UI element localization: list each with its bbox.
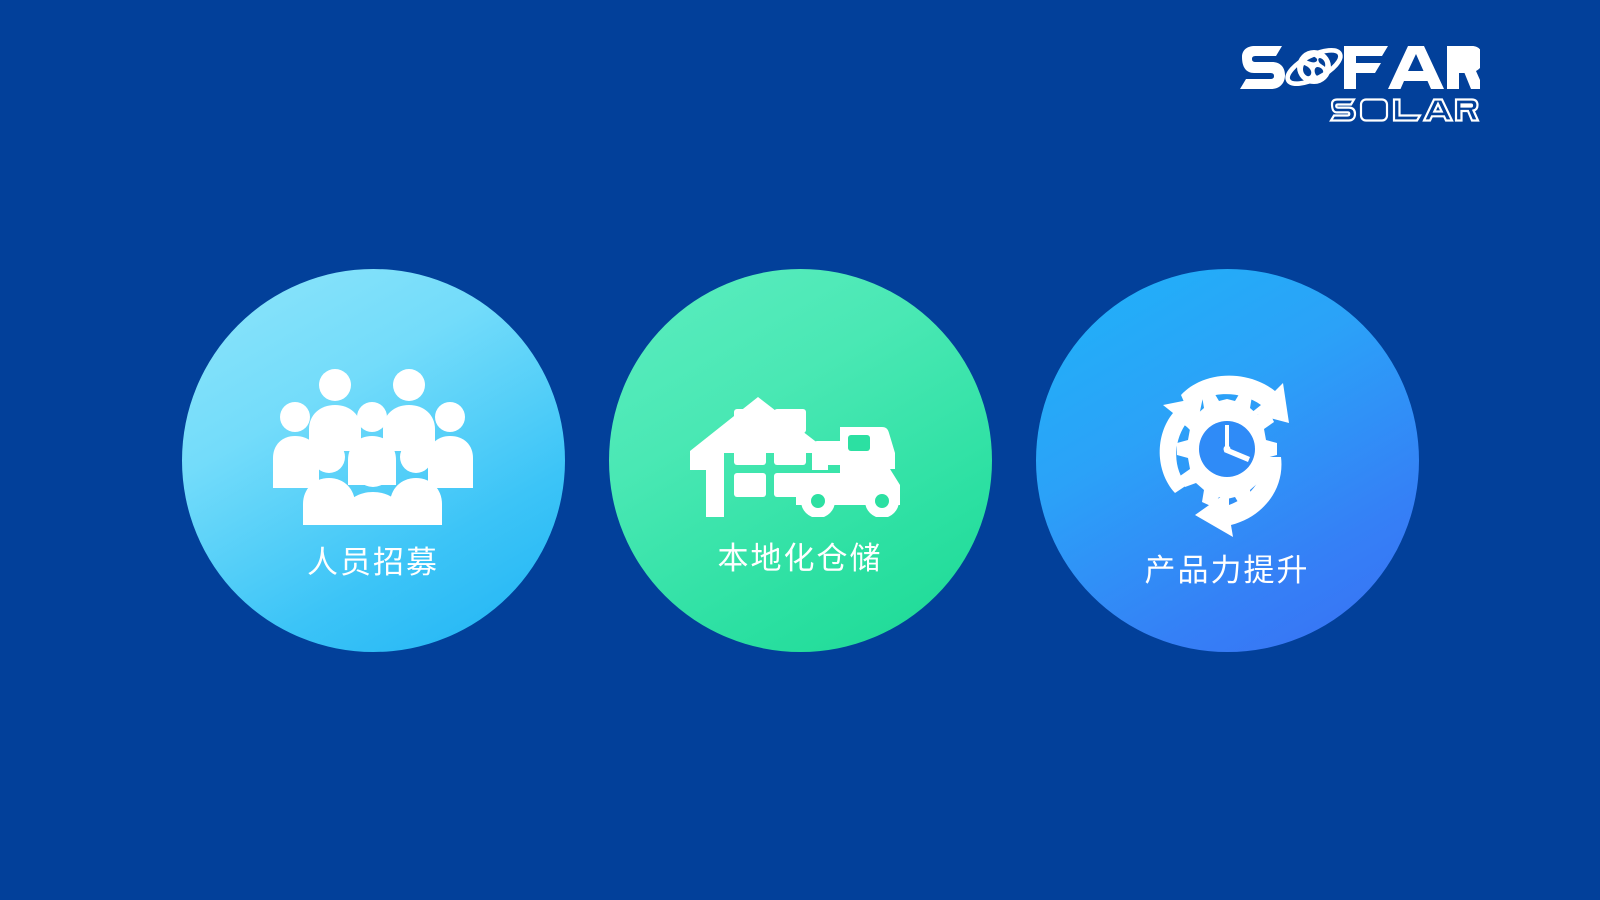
feature-card-label: 本地化仓储	[718, 543, 883, 574]
feature-card-label: 人员招募	[307, 547, 439, 578]
feature-card-teamwork[interactable]: 人员招募	[182, 269, 565, 652]
feature-circle-row: 人员招募	[0, 265, 1600, 655]
sofar-solar-logo	[1238, 45, 1480, 125]
gear-clock-cycle-icon	[1129, 365, 1325, 541]
globe-planet-icon	[1283, 45, 1345, 90]
feature-card-label: 产品力提升	[1145, 555, 1310, 586]
logo-wordmark-solar	[1328, 97, 1480, 123]
feature-card-improvement[interactable]: 产品力提升	[1036, 269, 1419, 652]
logo-wordmark-sofar	[1238, 45, 1480, 97]
people-group-icon	[273, 365, 473, 525]
feature-card-warehouse[interactable]: 本地化仓储	[609, 269, 992, 652]
warehouse-truck-icon	[690, 365, 910, 517]
slide-canvas: 人员招募	[0, 0, 1600, 900]
